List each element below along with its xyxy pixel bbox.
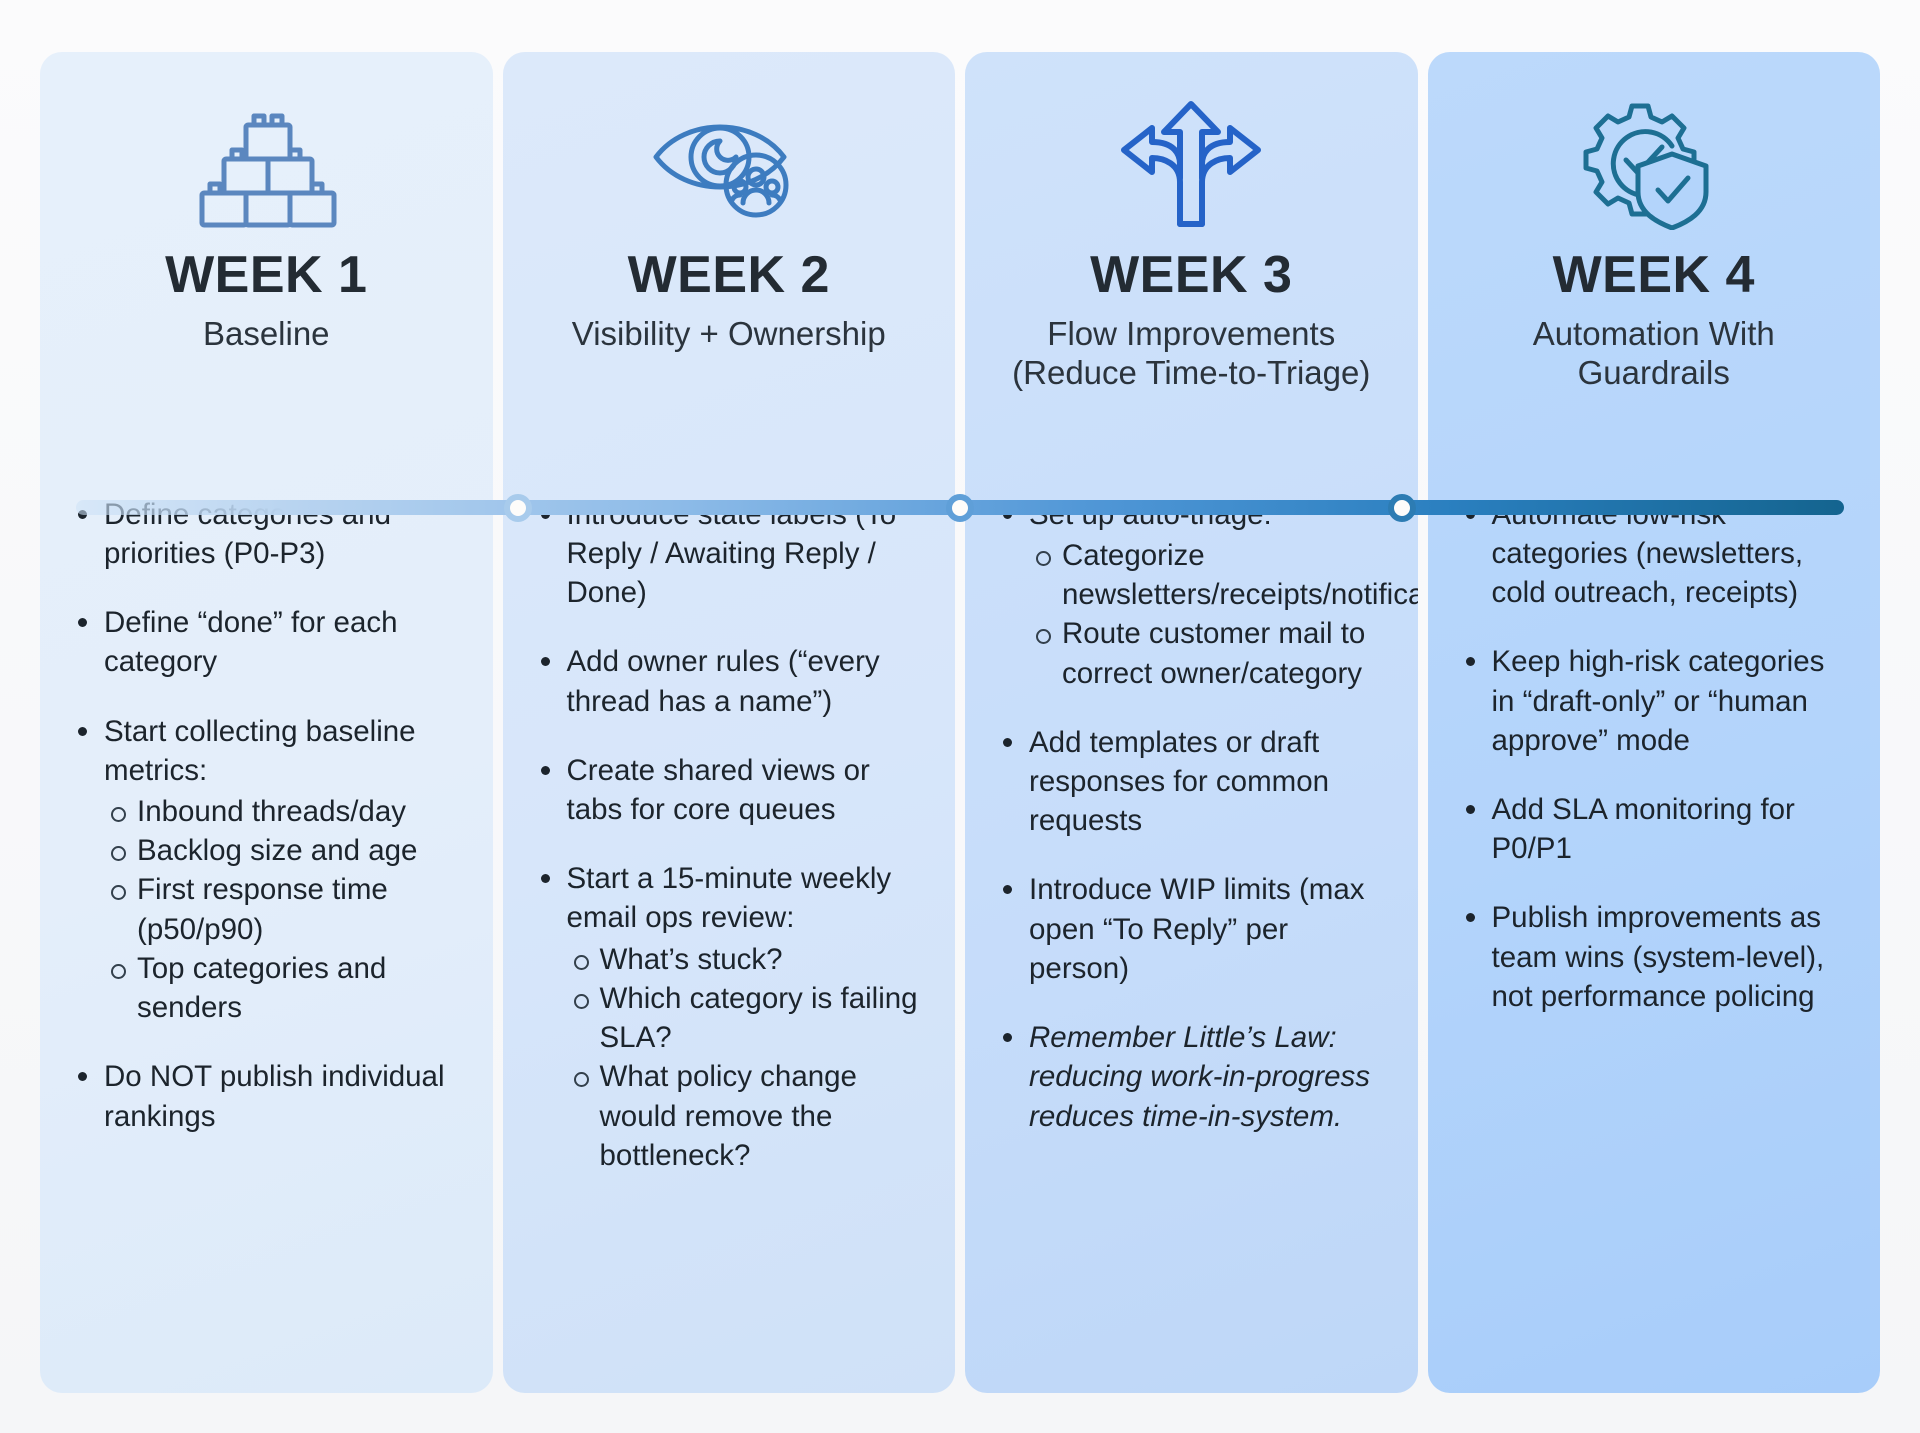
gear-shield-check-icon xyxy=(1574,94,1734,234)
sub-list-item: First response time (p50/p90) xyxy=(104,870,463,948)
sub-list: Inbound threads/day Backlog size and age… xyxy=(104,792,463,1027)
list-item: Create shared views or tabs for core que… xyxy=(533,751,926,829)
list-item: Publish improvements as team wins (syste… xyxy=(1458,898,1851,1016)
bullet-text: Set up auto-triage: xyxy=(1029,498,1272,531)
bullet-text: Add SLA monitoring for P0/P1 xyxy=(1492,793,1795,865)
week-card-1[interactable]: WEEK 1 Baseline Define categories and pr… xyxy=(40,52,493,1393)
bullet-text: Define categories and priorities (P0-P3) xyxy=(104,498,391,570)
three-way-arrow-icon xyxy=(1116,94,1266,234)
week-4-list: Automate low-risk categories (newsletter… xyxy=(1458,495,1851,1359)
list-item: Add owner rules (“every thread has a nam… xyxy=(533,642,926,720)
bullet-text: Start collecting baseline metrics: xyxy=(104,715,416,787)
roadmap-board: WEEK 1 Baseline Define categories and pr… xyxy=(0,0,1920,1433)
bullet-list: Define categories and priorities (P0-P3)… xyxy=(70,495,463,1136)
bullet-text: Publish improvements as team wins (syste… xyxy=(1492,901,1825,1012)
bullet-text: Remember Little’s Law: reducing work-in-… xyxy=(1029,1021,1370,1132)
sub-list-item: Categorize newsletters/receipts/notifica… xyxy=(1029,536,1388,614)
bullet-list: Set up auto-triage: Categorize newslette… xyxy=(995,495,1388,1136)
bullet-list: Introduce state labels (To Reply / Await… xyxy=(533,495,926,1176)
week-title: WEEK 3 xyxy=(1090,248,1292,303)
list-item: Start a 15-minute weekly email ops revie… xyxy=(533,859,926,1175)
bullet-text: Introduce WIP limits (max open “To Reply… xyxy=(1029,873,1365,984)
week-card-4[interactable]: WEEK 4 Automation With Guardrails Automa… xyxy=(1428,52,1881,1393)
bullet-text: Automate low-risk categories (newsletter… xyxy=(1492,498,1804,609)
sub-list-item: What policy change would remove the bott… xyxy=(567,1057,926,1175)
bullet-list: Automate low-risk categories (newsletter… xyxy=(1458,495,1851,1017)
list-item: Introduce WIP limits (max open “To Reply… xyxy=(995,870,1388,988)
week-title: WEEK 2 xyxy=(628,248,830,303)
sub-list-item: Top categories and senders xyxy=(104,949,463,1027)
list-item: Add SLA monitoring for P0/P1 xyxy=(1458,790,1851,868)
list-item: Keep high-risk categories in “draft-only… xyxy=(1458,642,1851,760)
stacked-bricks-icon xyxy=(186,94,346,234)
sub-list: Categorize newsletters/receipts/notifica… xyxy=(1029,536,1388,693)
sub-list-item: Backlog size and age xyxy=(104,831,463,870)
week-subtitle: Baseline xyxy=(203,315,330,399)
eye-with-people-icon xyxy=(644,94,814,234)
bullet-text: Add owner rules (“every thread has a nam… xyxy=(567,645,880,717)
week-2-list: Introduce state labels (To Reply / Await… xyxy=(533,495,926,1359)
list-item: Introduce state labels (To Reply / Await… xyxy=(533,495,926,613)
week-title: WEEK 4 xyxy=(1553,248,1755,303)
week-card-3[interactable]: WEEK 3 Flow Improvements (Reduce Time-to… xyxy=(965,52,1418,1393)
list-item: Define categories and priorities (P0-P3) xyxy=(70,495,463,573)
week-title: WEEK 1 xyxy=(165,248,367,303)
week-subtitle: Automation With Guardrails xyxy=(1458,315,1851,399)
week-1-list: Define categories and priorities (P0-P3)… xyxy=(70,495,463,1359)
bullet-text: Add templates or draft responses for com… xyxy=(1029,726,1329,837)
week-card-2[interactable]: WEEK 2 Visibility + Ownership Introduce … xyxy=(503,52,956,1393)
week-subtitle: Flow Improvements (Reduce Time-to-Triage… xyxy=(995,315,1388,399)
list-item-note: Remember Little’s Law: reducing work-in-… xyxy=(995,1018,1388,1136)
bullet-text: Start a 15-minute weekly email ops revie… xyxy=(567,862,892,934)
list-item: Set up auto-triage: Categorize newslette… xyxy=(995,495,1388,693)
week-3-list: Set up auto-triage: Categorize newslette… xyxy=(995,495,1388,1359)
list-item: Add templates or draft responses for com… xyxy=(995,723,1388,841)
sub-list-item: What’s stuck? xyxy=(567,940,926,979)
bullet-text: Introduce state labels (To Reply / Await… xyxy=(567,498,897,609)
list-item: Define “done” for each category xyxy=(70,603,463,681)
bullet-text: Do NOT publish individual rankings xyxy=(104,1060,445,1132)
list-item: Start collecting baseline metrics: Inbou… xyxy=(70,712,463,1028)
list-item: Automate low-risk categories (newsletter… xyxy=(1458,495,1851,613)
week-subtitle: Visibility + Ownership xyxy=(572,315,886,399)
bullet-text: Create shared views or tabs for core que… xyxy=(567,754,870,826)
sub-list: What’s stuck? Which category is failing … xyxy=(567,940,926,1175)
sub-list-item: Inbound threads/day xyxy=(104,792,463,831)
bullet-text: Define “done” for each category xyxy=(104,606,398,678)
list-item: Do NOT publish individual rankings xyxy=(70,1057,463,1135)
bullet-text: Keep high-risk categories in “draft-only… xyxy=(1492,645,1825,756)
sub-list-item: Route customer mail to correct owner/cat… xyxy=(1029,614,1388,692)
sub-list-item: Which category is failing SLA? xyxy=(567,979,926,1057)
